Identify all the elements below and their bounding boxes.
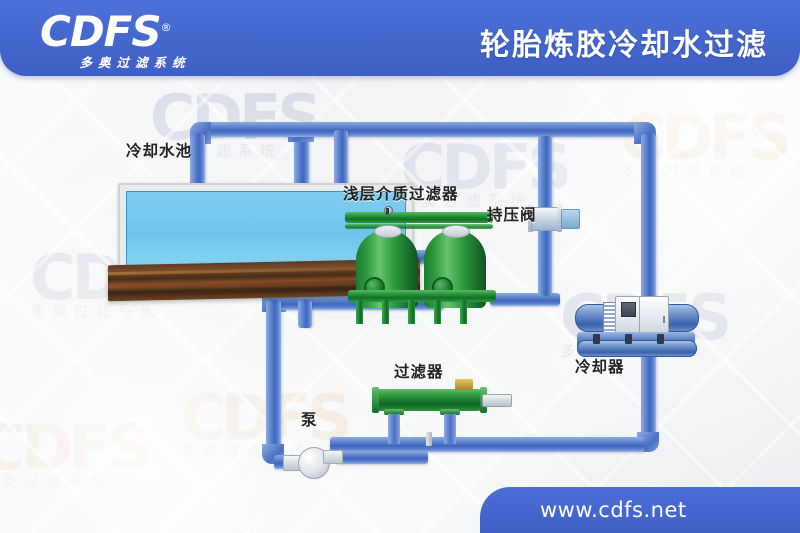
website-url[interactable]: www.cdfs.net <box>540 498 687 522</box>
pipe-right-downcomer-upper <box>641 134 656 299</box>
filter-brass-valve <box>455 379 473 390</box>
registered-trademark-icon: ® <box>161 21 171 34</box>
cooler-unit <box>575 290 697 352</box>
media-filter-tank-manway <box>374 225 402 238</box>
label-cooling-pool: 冷却水池 <box>126 139 192 161</box>
website-footer-bar: www.cdfs.net <box>480 487 800 533</box>
watermark-tile: CDFS 多奥过滤系统 <box>0 420 148 491</box>
media-filter-tank-manway <box>442 225 470 238</box>
watermark-brand-cn: 多奥过滤系统 <box>30 300 198 321</box>
cooler-foot <box>593 334 600 344</box>
page-title: 轮胎炼胶冷却水过滤 <box>480 20 768 64</box>
logo-letters: CDFS <box>40 7 161 56</box>
filter-drain-pipe <box>426 432 432 446</box>
logo-wordmark: CDFS® <box>40 6 230 54</box>
pipe-bottom-main <box>330 437 645 452</box>
media-filter-leg <box>356 300 363 324</box>
filter-outlet-nozzle <box>482 394 512 407</box>
psv-actuator <box>561 209 580 229</box>
media-filter-leg <box>408 300 415 324</box>
watermark-brand: CDFS <box>0 420 148 476</box>
filter-riser-column <box>388 414 400 444</box>
watermark-brand: CDFS <box>180 390 348 446</box>
media-filter-bottom-header <box>348 290 496 302</box>
filter-end-cap-left <box>372 387 379 413</box>
page-header: CDFS® 多奥过滤系统 轮胎炼胶冷却水过滤 <box>0 0 800 76</box>
company-logo: CDFS® 多奥过滤系统 <box>40 6 230 72</box>
pipe-psv-riser <box>538 136 552 210</box>
pipe-suction-downcomer <box>266 300 281 452</box>
pipe-left-downcomer <box>190 134 205 190</box>
label-media-filter: 浅层介质过滤器 <box>343 182 459 204</box>
media-filter-gauge-stem <box>386 208 389 214</box>
cooler-foot <box>657 334 664 344</box>
pipe-branch-stub <box>298 300 312 328</box>
filter-riser-column <box>444 414 456 444</box>
diagram-canvas: CDFS 多奥过滤系统 CDFS 多奥过滤系统 CDFS 多奥过滤系统 CDFS… <box>0 0 800 533</box>
cooler-display-screen <box>621 302 636 317</box>
media-filter-leg <box>460 300 467 324</box>
label-filter: 过滤器 <box>394 360 444 382</box>
pipe-pump-discharge <box>336 451 428 464</box>
cooler-door-handle <box>663 316 665 323</box>
pump-discharge-flange <box>323 450 343 464</box>
label-pump: 泵 <box>301 408 318 430</box>
pipe-psv-downcomer <box>538 226 552 296</box>
media-filter-leg <box>382 300 389 324</box>
label-cooler: 冷却器 <box>575 355 625 377</box>
label-pressure-valve: 持压阀 <box>487 203 537 225</box>
filter-body <box>375 389 483 411</box>
watermark-brand-cn: 多奥过滤系统 <box>0 470 148 491</box>
pipe-top-main <box>196 122 648 137</box>
media-filter-top-header-shadow <box>345 224 493 229</box>
media-filter-leg <box>434 300 441 324</box>
media-filter-top-header <box>345 212 493 223</box>
cooler-foot <box>625 334 632 344</box>
